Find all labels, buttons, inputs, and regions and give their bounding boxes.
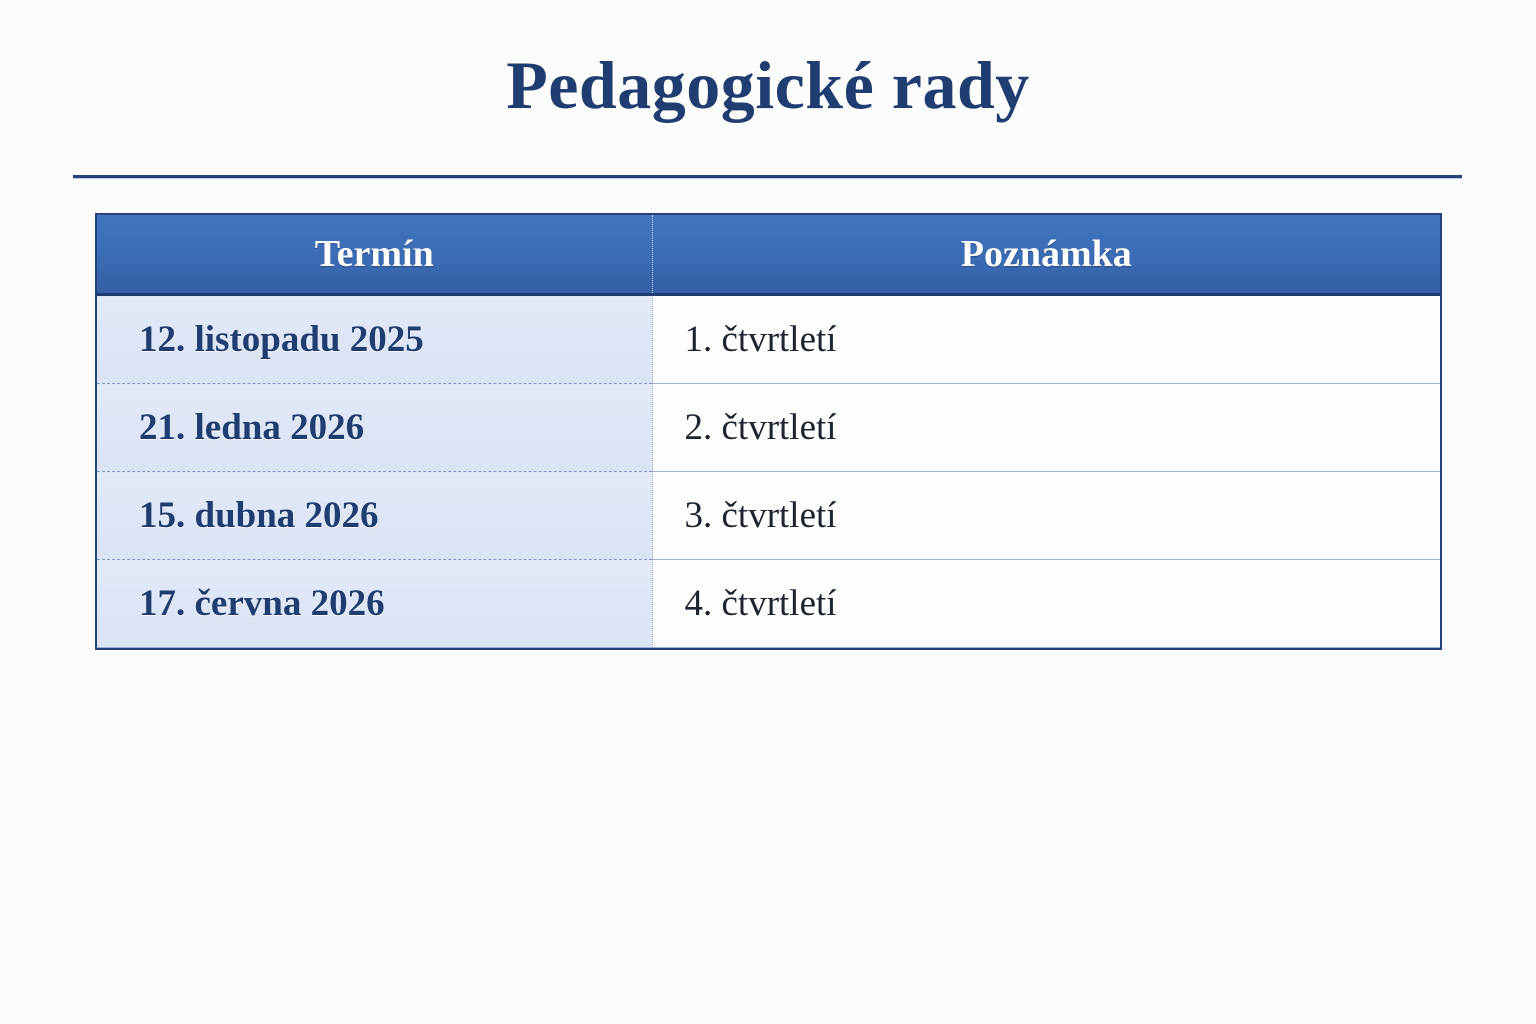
table-row: 15. dubna 2026 3. čtvrtletí [97, 472, 1440, 560]
title-divider [73, 175, 1462, 178]
table-header-row: Termín Poznámka [97, 215, 1440, 295]
slide-root: Pedagogické rady Termín Poznámka 12. lis… [0, 0, 1536, 1024]
cell-poznamka: 2. čtvrtletí [652, 384, 1440, 472]
cell-termin: 21. ledna 2026 [97, 384, 652, 472]
table-header: Termín Poznámka [97, 215, 1440, 295]
cell-poznamka: 1. čtvrtletí [652, 295, 1440, 384]
table-body: 12. listopadu 2025 1. čtvrtletí 21. ledn… [97, 295, 1440, 648]
schedule-table-container: Termín Poznámka 12. listopadu 2025 1. čt… [95, 213, 1442, 650]
column-header-poznamka: Poznámka [652, 215, 1440, 295]
schedule-table: Termín Poznámka 12. listopadu 2025 1. čt… [97, 215, 1440, 648]
cell-termin: 12. listopadu 2025 [97, 295, 652, 384]
cell-termin: 15. dubna 2026 [97, 472, 652, 560]
cell-termin: 17. června 2026 [97, 559, 652, 647]
cell-poznamka: 3. čtvrtletí [652, 472, 1440, 560]
table-row: 12. listopadu 2025 1. čtvrtletí [97, 295, 1440, 384]
column-header-termin: Termín [97, 215, 652, 295]
page-title: Pedagogické rady [0, 44, 1536, 126]
cell-poznamka: 4. čtvrtletí [652, 559, 1440, 647]
table-row: 17. června 2026 4. čtvrtletí [97, 559, 1440, 647]
table-row: 21. ledna 2026 2. čtvrtletí [97, 384, 1440, 472]
